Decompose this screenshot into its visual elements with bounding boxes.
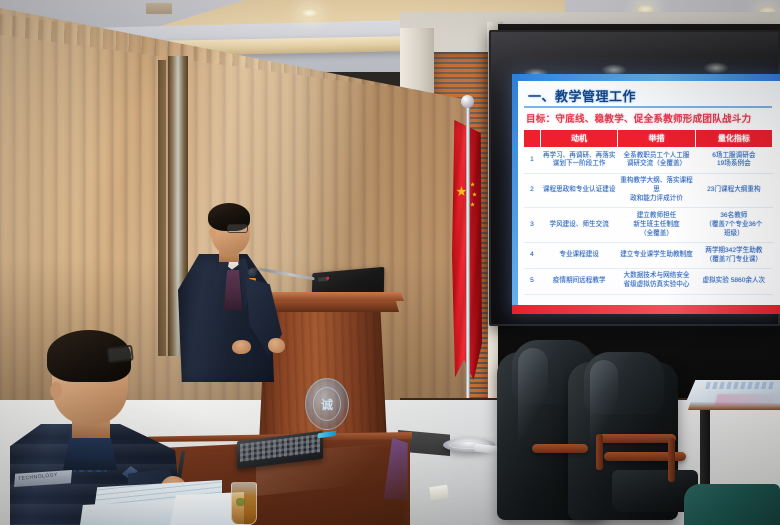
slide-title-divider: [524, 106, 772, 108]
green-chair-cover: [684, 484, 780, 525]
slide-goal-line: 目标：守底线、稳教学、促全系教师形成团队战斗力: [526, 111, 776, 125]
table-screen-reflection: [705, 382, 777, 389]
column-header-motivation: 动机: [541, 130, 618, 148]
flag-finial-icon: [461, 95, 474, 108]
ceiling-vent: [146, 3, 172, 14]
table-screen-reflection: [715, 394, 776, 406]
flag-pole: [466, 100, 470, 448]
presenter-glasses-icon: [227, 224, 248, 233]
tea-leaf: [236, 498, 245, 506]
seated-attendee-glasses-icon: [106, 345, 134, 364]
table-row: 1再学习、再调研、再落实谋划下一阶段工作全系教职员工个人工服调研交流（全覆盖）6…: [524, 148, 773, 174]
cell-measure: 建立教师担任新生班主任制度（全覆盖）: [618, 208, 695, 243]
emblem-character: 诚: [321, 396, 333, 413]
table-row: 3学风建设、师生交流建立教师担任新生班主任制度（全覆盖）36名教师（覆盖7个专业…: [524, 208, 773, 243]
slide-title: 一、教学管理工作: [528, 86, 636, 105]
cell-metric: 36名教师（覆盖7个专业36个班级）: [695, 208, 772, 243]
slide-bottom-band: [512, 305, 780, 314]
chair-armrest-post: [596, 434, 603, 470]
cell-measure: 重构教学大纲、落实课程思政和能力评成计价: [618, 173, 695, 208]
chair-wooden-armrest: [532, 444, 588, 453]
cell-metric: 虚拟实验 5860余人次: [695, 268, 772, 294]
conference-room-photo: 一、教学管理工作 目标：守底线、稳教学、促全系教师形成团队战斗力 动机 举措 量…: [0, 0, 780, 525]
cell-motivation: 专业课程建设: [541, 243, 618, 269]
column-header-metric: 量化指标: [695, 130, 772, 148]
chair-armrest-post: [668, 438, 675, 482]
cell-measure: 全系教职员工个人工服调研交流（全覆盖）: [618, 148, 695, 174]
cell-index: 4: [524, 243, 541, 269]
chair-wooden-armrest: [598, 434, 676, 443]
university-emblem-icon: 诚: [305, 378, 349, 430]
cell-measure: 大数据技术与网络安全省级虚拟仿真实验中心: [618, 268, 695, 294]
cell-motivation: 课程思政和专业认证建设: [541, 173, 618, 208]
cell-index: 2: [524, 173, 541, 208]
slide-data-table: 动机 举措 量化指标 1再学习、再调研、再落实谋划下一阶段工作全系教职员工个人工…: [523, 129, 773, 295]
cell-metric: 两学期342学生助教（覆盖7门专业课）: [695, 243, 772, 269]
presenter-ear: [209, 228, 216, 238]
right-table-leg: [700, 404, 710, 484]
screen-light-reflection: [703, 62, 729, 74]
floor-paper-scrap: [429, 485, 449, 500]
emblem-inner-ring: 诚: [313, 387, 341, 421]
cell-index: 5: [524, 268, 541, 294]
cell-index: 1: [524, 148, 541, 174]
presenter-right-hand: [268, 338, 285, 353]
microphone-head-icon: [248, 268, 257, 277]
presentation-slide[interactable]: 一、教学管理工作 目标：守底线、稳教学、促全系教师形成团队战斗力 动机 举措 量…: [512, 74, 780, 314]
presenter-left-hand: [232, 340, 251, 354]
cell-motivation: 学风建设、师生交流: [541, 208, 618, 243]
cell-motivation: 疫情期间远程教学: [541, 268, 618, 294]
slide-top-band: [512, 74, 780, 81]
table-row: 2课程思政和专业认证建设重构教学大纲、落实课程思政和能力评成计价23门课程大纲重…: [524, 173, 773, 208]
seated-attendee-ear: [50, 382, 62, 399]
slide-left-band: [512, 74, 518, 314]
cell-metric: 6场工服调研会19场系例会: [695, 148, 772, 174]
table-row: 5疫情期间远程教学大数据技术与网络安全省级虚拟仿真实验中心虚拟实验 5860余人…: [524, 268, 773, 294]
column-header-measure: 举措: [618, 130, 695, 148]
table-row: 4专业课程建设建立专业课学生助教制度两学期342学生助教（覆盖7门专业课）: [524, 243, 773, 269]
laptop-led-icon: [326, 277, 329, 280]
table-header-row: 动机 举措 量化指标: [524, 130, 773, 148]
cell-motivation: 再学习、再调研、再落实谋划下一阶段工作: [541, 148, 618, 174]
cell-metric: 23门课程大纲重构: [695, 173, 772, 208]
cell-index: 3: [524, 208, 541, 243]
column-header-index: [524, 130, 541, 148]
cell-measure: 建立专业课学生助教制度: [618, 243, 695, 269]
ceiling-downlight-icon: [300, 8, 319, 18]
